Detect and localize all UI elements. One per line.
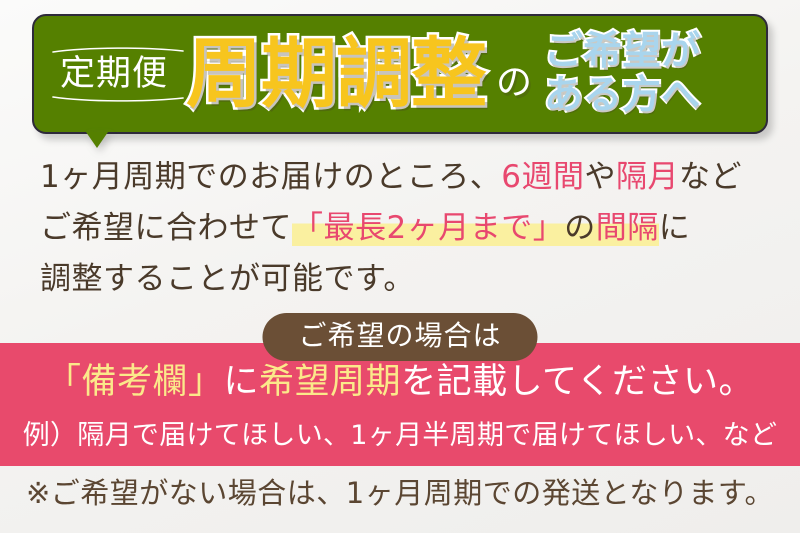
body-line-1: 1ヶ月周期でのお届けのところ、6週間や隔月など — [40, 152, 770, 203]
body-line-2: ご希望に合わせて「最長2ヶ月まで」の間隔に — [40, 203, 770, 254]
header-banner: 定期便 周期調整 の ご希望が ある方へ — [32, 14, 768, 134]
body-line2-part3: に — [659, 210, 691, 246]
headline-main: 周期調整 — [186, 36, 486, 112]
headline-right-line1: ご希望が — [544, 31, 700, 73]
pink-sub-example: 例）隔月で届けてほしい、1ヶ月半周期で届けてほしい、など — [0, 421, 800, 451]
headline-right-line2: ある方へ — [544, 75, 700, 117]
pink-main-part4: を記載してください。 — [401, 362, 754, 402]
body-line2-part1: ご希望に合わせて — [40, 210, 292, 246]
body-line1-part3: など — [679, 159, 742, 195]
banner-tail-icon — [86, 132, 108, 148]
badge-rule-top-icon — [52, 46, 184, 55]
body-line2-highlight2: 間隔 — [596, 210, 659, 246]
body-line2-highlight1: 「最長2ヶ月まで」 — [292, 210, 564, 246]
pink-main-part2: に — [224, 362, 260, 402]
headline-connector: の — [496, 65, 532, 101]
footnote-text: ※ご希望がない場合は、1ヶ月周期での発送となります。 — [0, 478, 800, 510]
pink-main-part1: 「備考欄」 — [46, 362, 224, 402]
body-line2-part2: の — [564, 210, 596, 246]
pink-main-message: 「備考欄」に希望周期を記載してください。 — [0, 363, 800, 402]
subscription-badge: 定期便 — [54, 44, 174, 105]
body-line-3: 調整することが可能です。 — [40, 254, 770, 305]
body-line1-part1: 1ヶ月周期でのお届けのところ、 — [40, 159, 501, 195]
request-case-badge-label: ご希望の場合は — [298, 319, 501, 352]
promo-banner-page: 定期便 周期調整 の ご希望が ある方へ 1ヶ月周期でのお届けのところ、6週間や… — [0, 0, 800, 533]
request-case-badge: ご希望の場合は — [262, 313, 537, 361]
pink-main-part3: 希望周期 — [259, 362, 401, 402]
body-line1-accent2: 隔月 — [616, 159, 679, 195]
body-line1-part2: や — [584, 159, 616, 195]
body-copy: 1ヶ月周期でのお届けのところ、6週間や隔月など ご希望に合わせて「最長2ヶ月まで… — [40, 152, 770, 305]
subscription-badge-label: 定期便 — [60, 54, 168, 94]
body-line1-accent1: 6週間 — [501, 159, 584, 195]
headline-right-group: ご希望が ある方へ — [544, 31, 700, 116]
badge-rule-bottom-icon — [52, 94, 184, 103]
